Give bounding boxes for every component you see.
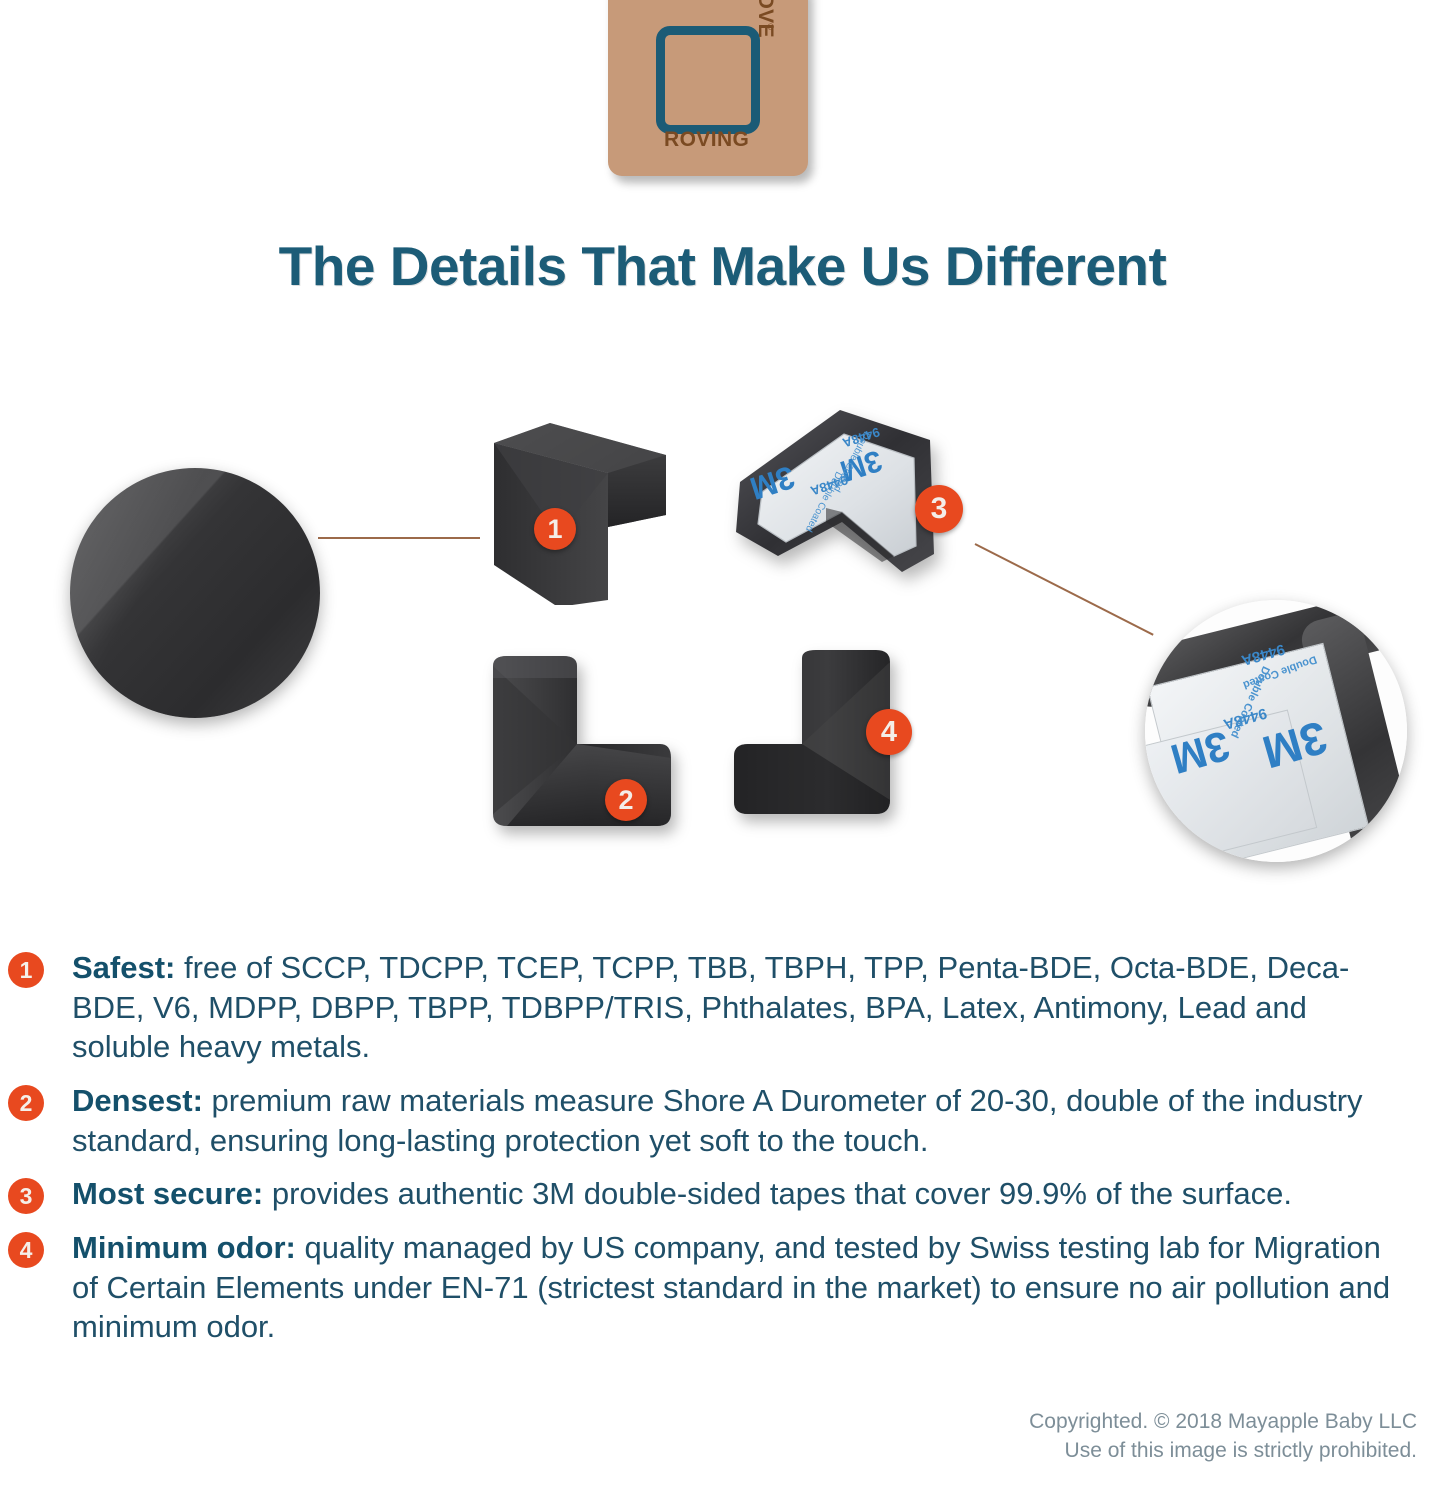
feature-body-1: free of SCCP, TDCPP, TCEP, TCPP, TBB, TB… [72,950,1349,1064]
feature-number-2: 2 [8,1085,44,1121]
product-corner-guard-angled [480,415,680,605]
product-corner-guard-front [485,648,675,833]
feature-lead-2: Densest: [72,1083,203,1118]
feature-text-2: Densest: premium raw materials measure S… [72,1081,1405,1160]
connector-line-right [975,543,1154,636]
feature-lead-3: Most secure: [72,1176,263,1211]
feature-text-1: Safest: free of SCCP, TDCPP, TCEP, TCPP,… [72,948,1405,1067]
feature-item-2: 2 Densest: premium raw materials measure… [0,1081,1445,1160]
feature-item-3: 3 Most secure: provides authentic 3M dou… [0,1174,1445,1214]
feature-item-1: 1 Safest: free of SCCP, TDCPP, TCEP, TCP… [0,948,1445,1067]
feature-body-2: premium raw materials measure Shore A Du… [72,1083,1363,1158]
feature-lead-4: Minimum odor: [72,1230,296,1265]
connector-line-left [318,537,480,539]
feature-number-1: 1 [8,952,44,988]
tape-closeup-image: 3M 3M 9448A 9448A Double Coated Double C… [1145,600,1407,862]
product-diagram: 1 2 [0,0,1445,900]
feature-text-3: Most secure: provides authentic 3M doubl… [72,1174,1405,1214]
feature-number-4: 4 [8,1232,44,1268]
feature-body-3: provides authentic 3M double-sided tapes… [263,1176,1292,1211]
product-badge-4: 4 [866,709,912,755]
magnifier-foam-closeup [70,468,320,718]
copyright-line-1: Copyrighted. © 2018 Mayapple Baby LLC [1029,1408,1417,1436]
copyright-line-2: Use of this image is strictly prohibited… [1029,1437,1417,1465]
feature-list: 1 Safest: free of SCCP, TDCPP, TCEP, TCP… [0,948,1445,1361]
product-badge-1: 1 [534,508,576,550]
feature-lead-1: Safest: [72,950,175,985]
feature-item-4: 4 Minimum odor: quality managed by US co… [0,1228,1445,1347]
magnifier-tape-closeup: 3M 3M 9448A 9448A Double Coated Double C… [1145,600,1407,862]
feature-text-4: Minimum odor: quality managed by US comp… [72,1228,1405,1347]
copyright-notice: Copyrighted. © 2018 Mayapple Baby LLC Us… [1029,1408,1417,1465]
feature-number-3: 3 [8,1178,44,1214]
foam-surface-image [70,468,320,718]
product-badge-2: 2 [605,779,647,821]
product-badge-3: 3 [915,485,963,533]
